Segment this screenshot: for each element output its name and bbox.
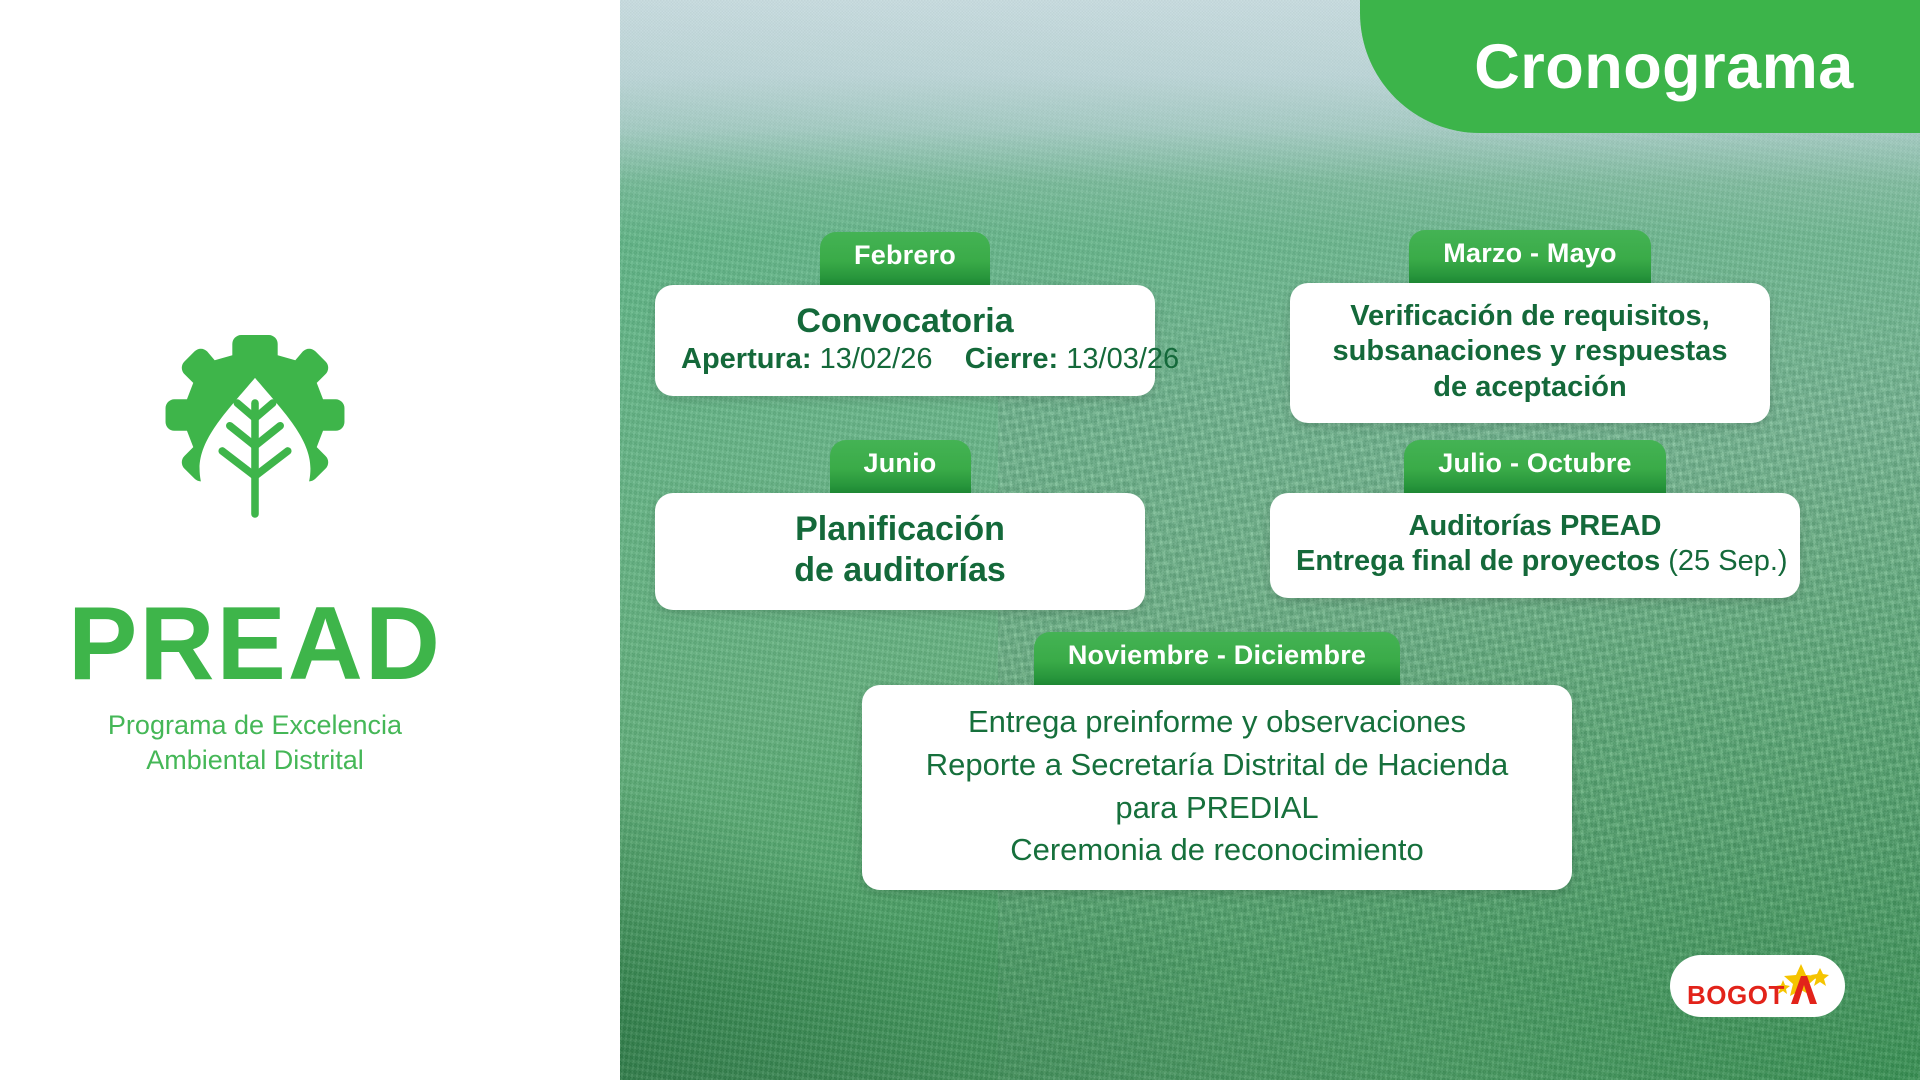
card-line-1: Verificación de requisitos,: [1316, 299, 1744, 334]
card-line-2: Reporte a Secretaría Distrital de Hacien…: [888, 744, 1546, 787]
card-line-4: Ceremonia de reconocimiento: [888, 829, 1546, 872]
header-panel: Cronograma: [1360, 0, 1920, 133]
card-body-julio-octubre: Auditorías PREAD Entrega final de proyec…: [1270, 493, 1800, 598]
card-line-1: Planificación: [681, 509, 1119, 550]
gear-leaf-tree-icon: [129, 330, 381, 582]
timeline-card-julio-octubre[interactable]: Julio - Octubre Auditorías PREAD Entrega…: [1270, 440, 1800, 598]
entrega-label: Entrega final de proyectos: [1296, 545, 1660, 577]
card-body-junio: Planificación de auditorías: [655, 493, 1145, 610]
period-tab-noviembre-diciembre: Noviembre - Diciembre: [1034, 632, 1400, 685]
card-body-noviembre-diciembre: Entrega preinforme y observaciones Repor…: [862, 685, 1572, 890]
card-line-title: Convocatoria: [681, 301, 1129, 342]
card-body-febrero: Convocatoria Apertura: 13/02/26 Cierre: …: [655, 285, 1155, 396]
card-line-2: de auditorías: [681, 550, 1119, 591]
card-line-2: subsanaciones y respuestas: [1316, 334, 1744, 369]
brand-logo-block: PREAD Programa de Excelencia Ambiental D…: [55, 330, 455, 777]
apertura-label: Apertura:: [681, 343, 812, 375]
period-tab-marzo-mayo: Marzo - Mayo: [1409, 230, 1650, 283]
bogota-logo-icon: BOGOT: [1683, 962, 1833, 1010]
card-line-3: para PREDIAL: [888, 787, 1546, 830]
card-line-1: Auditorías PREAD: [1296, 509, 1774, 544]
brand-subtitle-line-1: Programa de Excelencia: [108, 708, 402, 743]
apertura-value: 13/02/26: [820, 343, 933, 375]
period-tab-julio-octubre: Julio - Octubre: [1404, 440, 1666, 493]
bogota-logo-badge: BOGOT: [1670, 955, 1845, 1017]
card-line-2: Entrega final de proyectos (25 Sep.): [1296, 544, 1774, 579]
timeline-card-marzo-mayo[interactable]: Marzo - Mayo Verificación de requisitos,…: [1290, 230, 1770, 423]
period-tab-junio: Junio: [830, 440, 971, 493]
svg-text:BOGOT: BOGOT: [1687, 980, 1785, 1010]
brand-subtitle-line-2: Ambiental Distrital: [108, 743, 402, 778]
brand-wordmark: PREAD: [68, 592, 442, 696]
infographic-canvas: Cronograma PREAD Programa de Excele: [0, 0, 1920, 1080]
card-line-dates: Apertura: 13/02/26 Cierre: 13/03/26: [681, 342, 1129, 377]
timeline-card-noviembre-diciembre[interactable]: Noviembre - Diciembre Entrega preinforme…: [862, 632, 1572, 890]
card-body-marzo-mayo: Verificación de requisitos, subsanacione…: [1290, 283, 1770, 423]
page-title: Cronograma: [1474, 31, 1854, 103]
entrega-note: (25 Sep.): [1668, 545, 1787, 577]
cierre-value: 13/03/26: [1066, 343, 1179, 375]
card-line-1: Entrega preinforme y observaciones: [888, 701, 1546, 744]
timeline-card-junio[interactable]: Junio Planificación de auditorías: [655, 440, 1145, 610]
brand-subtitle: Programa de Excelencia Ambiental Distrit…: [108, 708, 402, 777]
cierre-label: Cierre:: [965, 343, 1059, 375]
card-line-3: de aceptación: [1316, 370, 1744, 405]
timeline-card-febrero[interactable]: Febrero Convocatoria Apertura: 13/02/26 …: [655, 232, 1155, 396]
period-tab-febrero: Febrero: [820, 232, 990, 285]
